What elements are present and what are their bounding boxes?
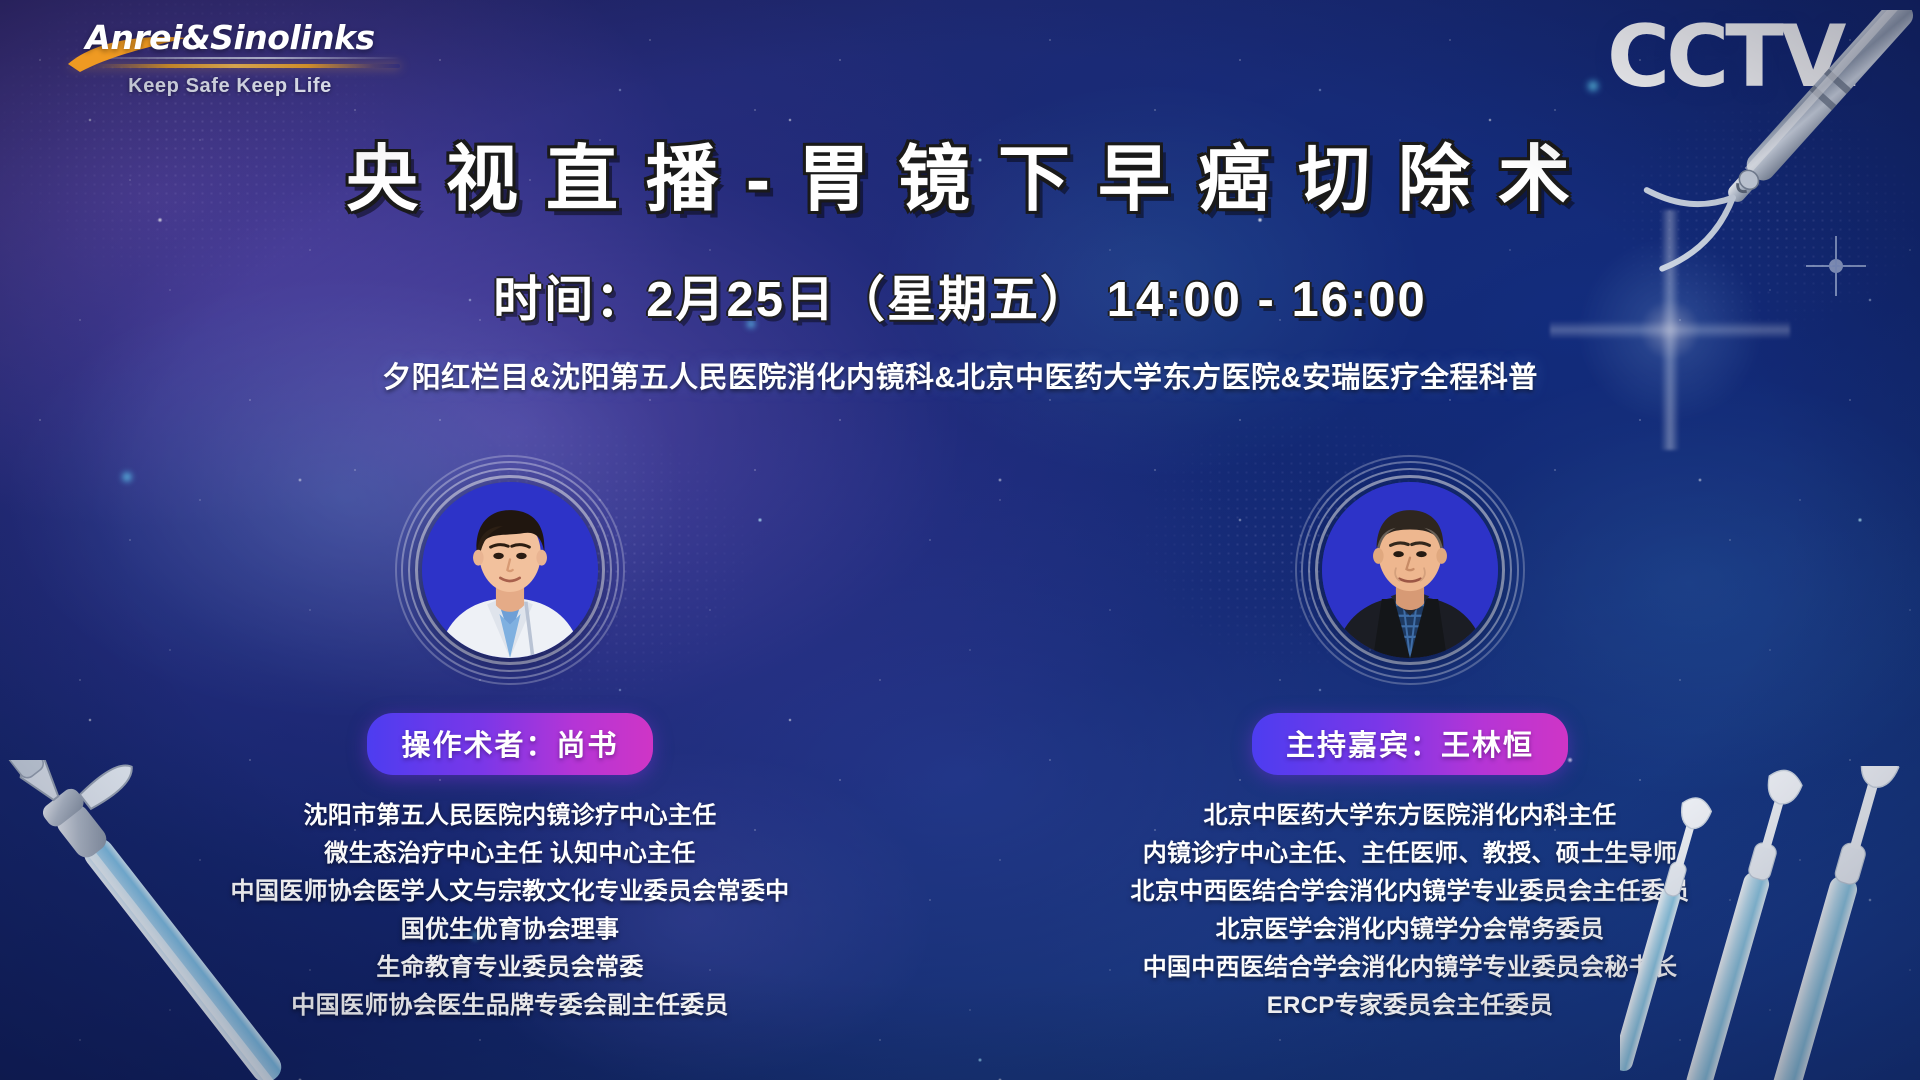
schedule-line: 时间：2月25日（星期五） 14:00 - 16:00 [0, 260, 1920, 331]
page-title: 央 视 直 播 - 胃 镜 下 早 癌 切 除 术 [0, 140, 1920, 221]
bio-line: 北京中医药大学东方医院消化内科主任 [1030, 797, 1790, 835]
brand-divider-top [70, 57, 400, 59]
bio-line: 微生态治疗中心主任 认知中心主任 [130, 835, 890, 873]
bio-line: 内镜诊疗中心主任、主任医师、教授、硕士生导师 [1030, 835, 1790, 873]
poster-canvas: Anrei&Sinolinks Keep Safe Keep Life CCTV… [0, 0, 1920, 1080]
glow-dot-3 [1585, 78, 1601, 94]
avatar [395, 455, 625, 685]
cctv-logo: CCTV. [1607, 14, 1860, 100]
brand-wordmark: Anrei&Sinolinks [70, 18, 390, 57]
speaker-name-badge-host: 主持嘉宾：王林恒 [1252, 713, 1568, 775]
bio-line: 生命教育专业委员会常委 [130, 949, 890, 987]
bio-line: 沈阳市第五人民医院内镜诊疗中心主任 [130, 797, 890, 835]
speakers-section: 操作术者：尚书 沈阳市第五人民医院内镜诊疗中心主任 微生态治疗中心主任 认知中心… [0, 455, 1920, 1055]
speaker-name-badge-operator: 操作术者：尚书 [367, 713, 652, 775]
bio-line: ERCP专家委员会主任委员 [1030, 987, 1790, 1025]
bio-line: 北京中西医结合学会消化内镜学专业委员会主任委员 [1030, 873, 1790, 911]
speaker-card-host: 主持嘉宾：王林恒 北京中医药大学东方医院消化内科主任 内镜诊疗中心主任、主任医师… [1030, 455, 1790, 1024]
bio-line: 北京医学会消化内镜学分会常务委员 [1030, 911, 1790, 949]
speaker-bio-host: 北京中医药大学东方医院消化内科主任 内镜诊疗中心主任、主任医师、教授、硕士生导师… [1030, 797, 1790, 1024]
speaker-card-operator: 操作术者：尚书 沈阳市第五人民医院内镜诊疗中心主任 微生态治疗中心主任 认知中心… [130, 455, 890, 1024]
avatar [1295, 455, 1525, 685]
bio-line: 中国中西医结合学会消化内镜学专业委员会秘书长 [1030, 949, 1790, 987]
bio-line: 中国医师协会医生品牌专委会副主任委员 [130, 987, 890, 1025]
speaker-bio-operator: 沈阳市第五人民医院内镜诊疗中心主任 微生态治疗中心主任 认知中心主任 中国医师协… [130, 797, 890, 1024]
brand-divider-gold [70, 64, 400, 68]
avatar-photo-host [1322, 482, 1498, 658]
avatar-photo-operator [422, 482, 598, 658]
bio-line: 中国医师协会医学人文与宗教文化专业委员会常委中 [130, 873, 890, 911]
organizers-line: 夕阳红栏目&沈阳第五人民医院消化内镜科&北京中医药大学东方医院&安瑞医疗全程科普 [0, 354, 1920, 396]
brand-tagline: Keep Safe Keep Life [70, 75, 390, 98]
brand-logo: Anrei&Sinolinks Keep Safe Keep Life [70, 18, 390, 98]
bio-line: 国优生优育协会理事 [130, 911, 890, 949]
